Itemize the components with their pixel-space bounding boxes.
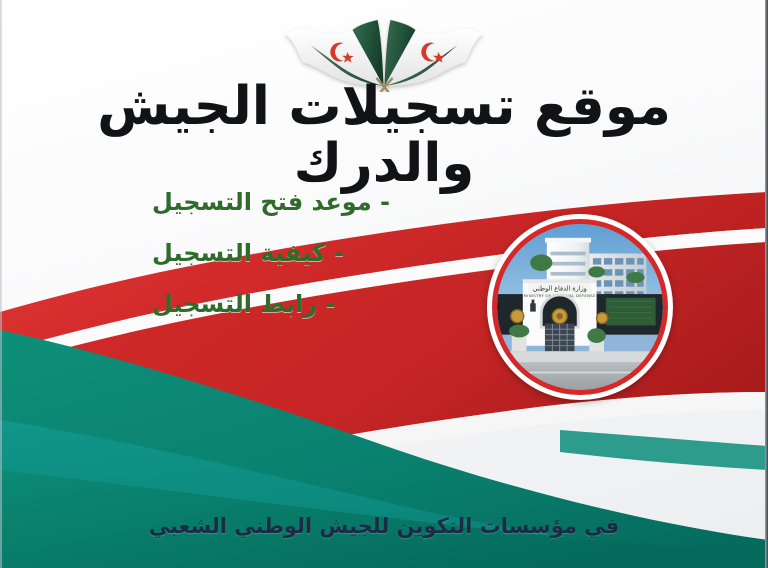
svg-text:وزارة الدفاع الوطني: وزارة الدفاع الوطني (533, 284, 587, 292)
bullet-item-registration-date: - موعد فتح التسجيل (152, 190, 390, 214)
photo-image: وزارة الدفاع الوطني MINISTRY OF NATIONAL… (497, 224, 663, 390)
bullet-item-how-to-register: - كيفية التسجيل (152, 241, 390, 265)
ministry-photo-circle: وزارة الدفاع الوطني MINISTRY OF NATIONAL… (487, 214, 673, 400)
ministry-building-illustration: وزارة الدفاع الوطني MINISTRY OF NATIONAL… (497, 224, 663, 390)
poster-canvas: موقع تسجيلات الجيش والدرك - موعد فتح الت… (0, 0, 768, 568)
bullet-list: - موعد فتح التسجيل - كيفية التسجيل - راب… (152, 190, 390, 343)
poster-caption: في مؤسسات التكوين للجيش الوطني الشعبي (0, 514, 768, 538)
bullet-item-registration-link: - رابط التسجيل (152, 292, 390, 316)
poster-title: موقع تسجيلات الجيش والدرك (0, 78, 768, 192)
photo-red-ring: وزارة الدفاع الوطني MINISTRY OF NATIONAL… (492, 219, 668, 395)
